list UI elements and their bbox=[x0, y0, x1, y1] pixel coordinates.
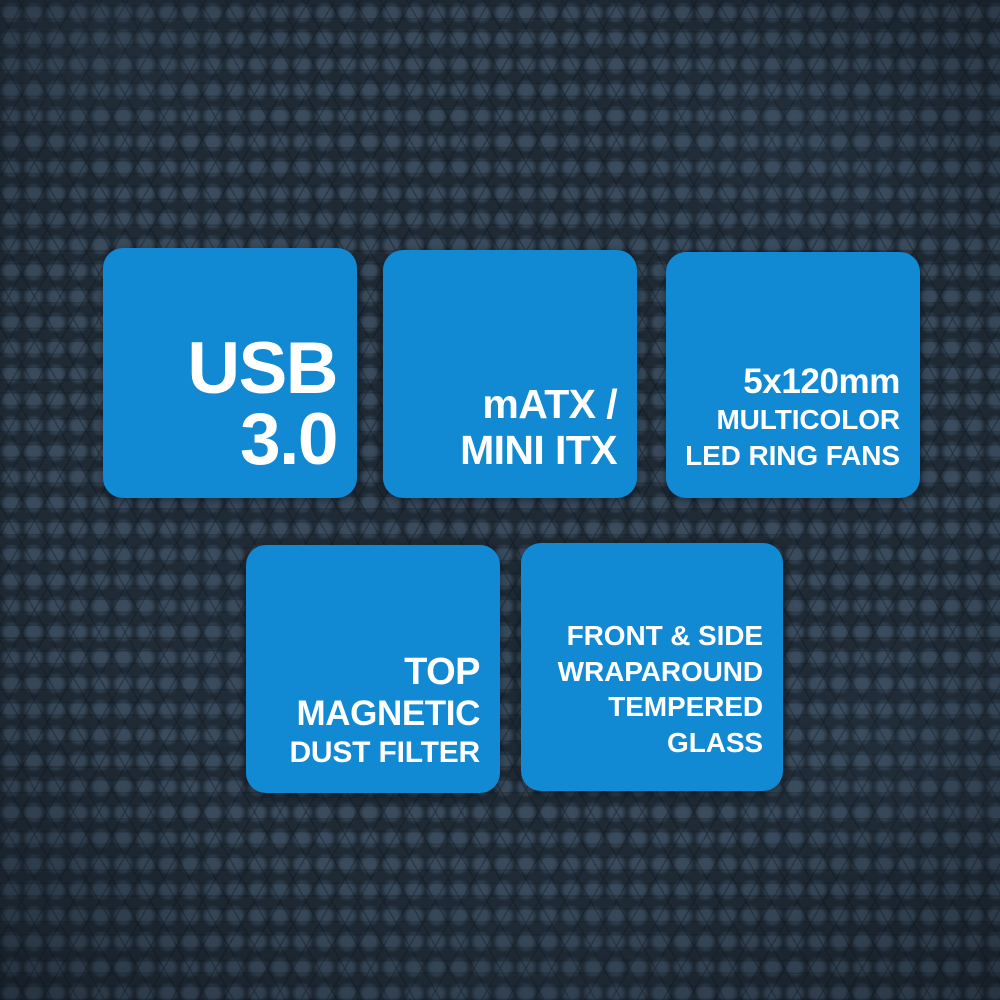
feature-line: LED RING FANS bbox=[685, 438, 900, 474]
feature-card-dust-filter[interactable]: TOP MAGNETIC DUST FILTER bbox=[246, 545, 500, 793]
feature-line: FRONT & SIDE bbox=[567, 618, 763, 654]
feature-line: MULTICOLOR bbox=[716, 402, 900, 438]
feature-card-usb-3-0-text: USB 3.0 bbox=[187, 333, 357, 498]
feature-line: MAGNETIC bbox=[297, 694, 480, 735]
feature-line: TOP bbox=[404, 651, 480, 694]
feature-card-usb-3-0[interactable]: USB 3.0 bbox=[103, 248, 357, 498]
feature-card-form-factor[interactable]: mATX / MINI ITX bbox=[383, 250, 637, 498]
feature-line: 3.0 bbox=[240, 404, 337, 476]
feature-line: 5x120mm bbox=[743, 362, 900, 403]
feature-card-dust-filter-text: TOP MAGNETIC DUST FILTER bbox=[289, 651, 500, 793]
feature-line: MINI ITX bbox=[460, 428, 617, 474]
feature-badge-board: USB 3.0 mATX / MINI ITX 5x120mm MULTICOL… bbox=[0, 0, 1000, 1000]
feature-card-tempered-glass-text: FRONT & SIDE WRAPAROUND TEMPERED GLASS bbox=[558, 618, 783, 791]
feature-line: DUST FILTER bbox=[289, 735, 480, 771]
feature-line: TEMPERED bbox=[608, 689, 763, 725]
feature-line: USB bbox=[187, 333, 337, 405]
background-vignette bbox=[0, 0, 1000, 1000]
feature-card-form-factor-text: mATX / MINI ITX bbox=[460, 382, 637, 498]
feature-card-led-ring-fans-text: 5x120mm MULTICOLOR LED RING FANS bbox=[685, 362, 920, 498]
feature-line: GLASS bbox=[667, 725, 763, 761]
feature-line: mATX / bbox=[482, 382, 617, 428]
feature-line: WRAPAROUND bbox=[558, 654, 763, 690]
feature-card-led-ring-fans[interactable]: 5x120mm MULTICOLOR LED RING FANS bbox=[666, 252, 920, 498]
feature-card-tempered-glass[interactable]: FRONT & SIDE WRAPAROUND TEMPERED GLASS bbox=[521, 543, 783, 791]
